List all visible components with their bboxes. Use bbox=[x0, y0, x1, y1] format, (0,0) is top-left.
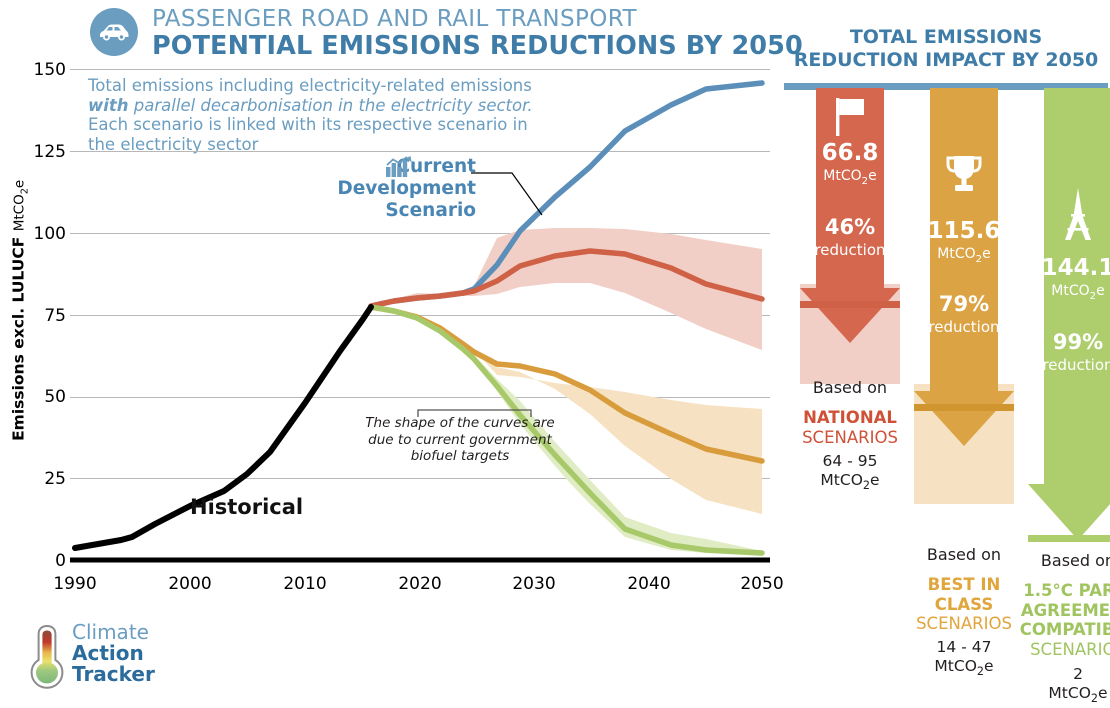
eiffel-tower-icon bbox=[1058, 188, 1098, 242]
paris-scenario-bold: 1.5°C PARIS AGREEMENT COMPATIBLE bbox=[1020, 581, 1110, 639]
band-national bbox=[371, 228, 762, 350]
paris-range-value: 2 bbox=[1073, 665, 1083, 683]
national-value: 66.8 bbox=[800, 140, 900, 166]
best-in-class-value: 115.6 bbox=[914, 218, 1014, 244]
best-in-class-reduction-label: reduction bbox=[914, 318, 1014, 336]
best-in-class-scenario-bold: BEST IN CLASS bbox=[928, 575, 1001, 614]
logo-wordmark: Climate Action Tracker bbox=[72, 622, 155, 685]
best-in-class-scenario-name: BEST IN CLASS SCENARIOS bbox=[899, 575, 1029, 634]
national-range: 64 - 95MtCO2e bbox=[785, 452, 915, 495]
cds-leader-line bbox=[471, 173, 542, 215]
best-in-class-unit: MtCO2e bbox=[914, 246, 1014, 265]
national-reduction-label: reduction bbox=[800, 241, 900, 259]
paris-scenario-name: 1.5°C PARIS AGREEMENT COMPATIBLE SCENARI… bbox=[1013, 581, 1110, 659]
national-scenario-name: NATIONAL SCENARIOS bbox=[785, 408, 915, 447]
thermometer-icon bbox=[30, 624, 64, 690]
paris-based-on: Based on bbox=[1013, 551, 1110, 570]
best-in-class-range-value: 14 - 47 bbox=[937, 638, 992, 656]
paris-reduction-label: reduction bbox=[1028, 356, 1110, 374]
paris-scenario-light: SCENARIOS bbox=[1030, 640, 1110, 659]
paris-percent: 99% bbox=[1028, 330, 1110, 354]
national-unit: MtCO2e bbox=[800, 168, 900, 187]
bar-chart-arrow-icon bbox=[386, 156, 412, 181]
historical-label: Historical bbox=[190, 495, 303, 519]
logo-word-tracker: Tracker bbox=[72, 664, 155, 685]
right-panel-title-line-2: REDUCTION IMPACT BY 2050 bbox=[782, 49, 1110, 72]
biofuel-note: The shape of the curves are due to curre… bbox=[360, 415, 560, 465]
national-scenario-bold: NATIONAL bbox=[803, 408, 897, 427]
infographic-root: PASSENGER ROAD AND RAIL TRANSPORT POTENT… bbox=[0, 0, 1110, 707]
paris-range: 2MtCO2e bbox=[1013, 665, 1110, 708]
logo-word-action: Action bbox=[72, 643, 155, 664]
national-based-on: Based on bbox=[785, 378, 915, 397]
best-in-class-range: 14 - 47MtCO2e bbox=[899, 638, 1029, 681]
right-panel-title-line-1: TOTAL EMISSIONS bbox=[782, 26, 1110, 49]
national-range-value: 64 - 95 bbox=[823, 452, 878, 470]
right-panel-title: TOTAL EMISSIONS REDUCTION IMPACT BY 2050 bbox=[782, 26, 1110, 72]
national-scenario-light: SCENARIOS bbox=[802, 428, 898, 447]
logo-word-climate: Climate bbox=[72, 622, 155, 643]
paris-value: 144.1 bbox=[1028, 255, 1110, 281]
best-in-class-percent: 79% bbox=[914, 292, 1014, 316]
flag-icon bbox=[830, 96, 870, 138]
emissions-line-chart bbox=[0, 0, 782, 707]
climate-action-tracker-logo: Climate Action Tracker bbox=[30, 624, 200, 694]
trophy-icon bbox=[942, 152, 986, 198]
best-in-class-scenario-light: SCENARIOS bbox=[916, 614, 1012, 633]
paris-unit: MtCO2e bbox=[1028, 283, 1110, 302]
chart-panel: PASSENGER ROAD AND RAIL TRANSPORT POTENT… bbox=[0, 0, 782, 707]
best-in-class-based-on: Based on bbox=[899, 545, 1029, 564]
national-percent: 46% bbox=[800, 215, 900, 239]
reduction-impact-panel: TOTAL EMISSIONS REDUCTION IMPACT BY 2050… bbox=[782, 0, 1110, 707]
